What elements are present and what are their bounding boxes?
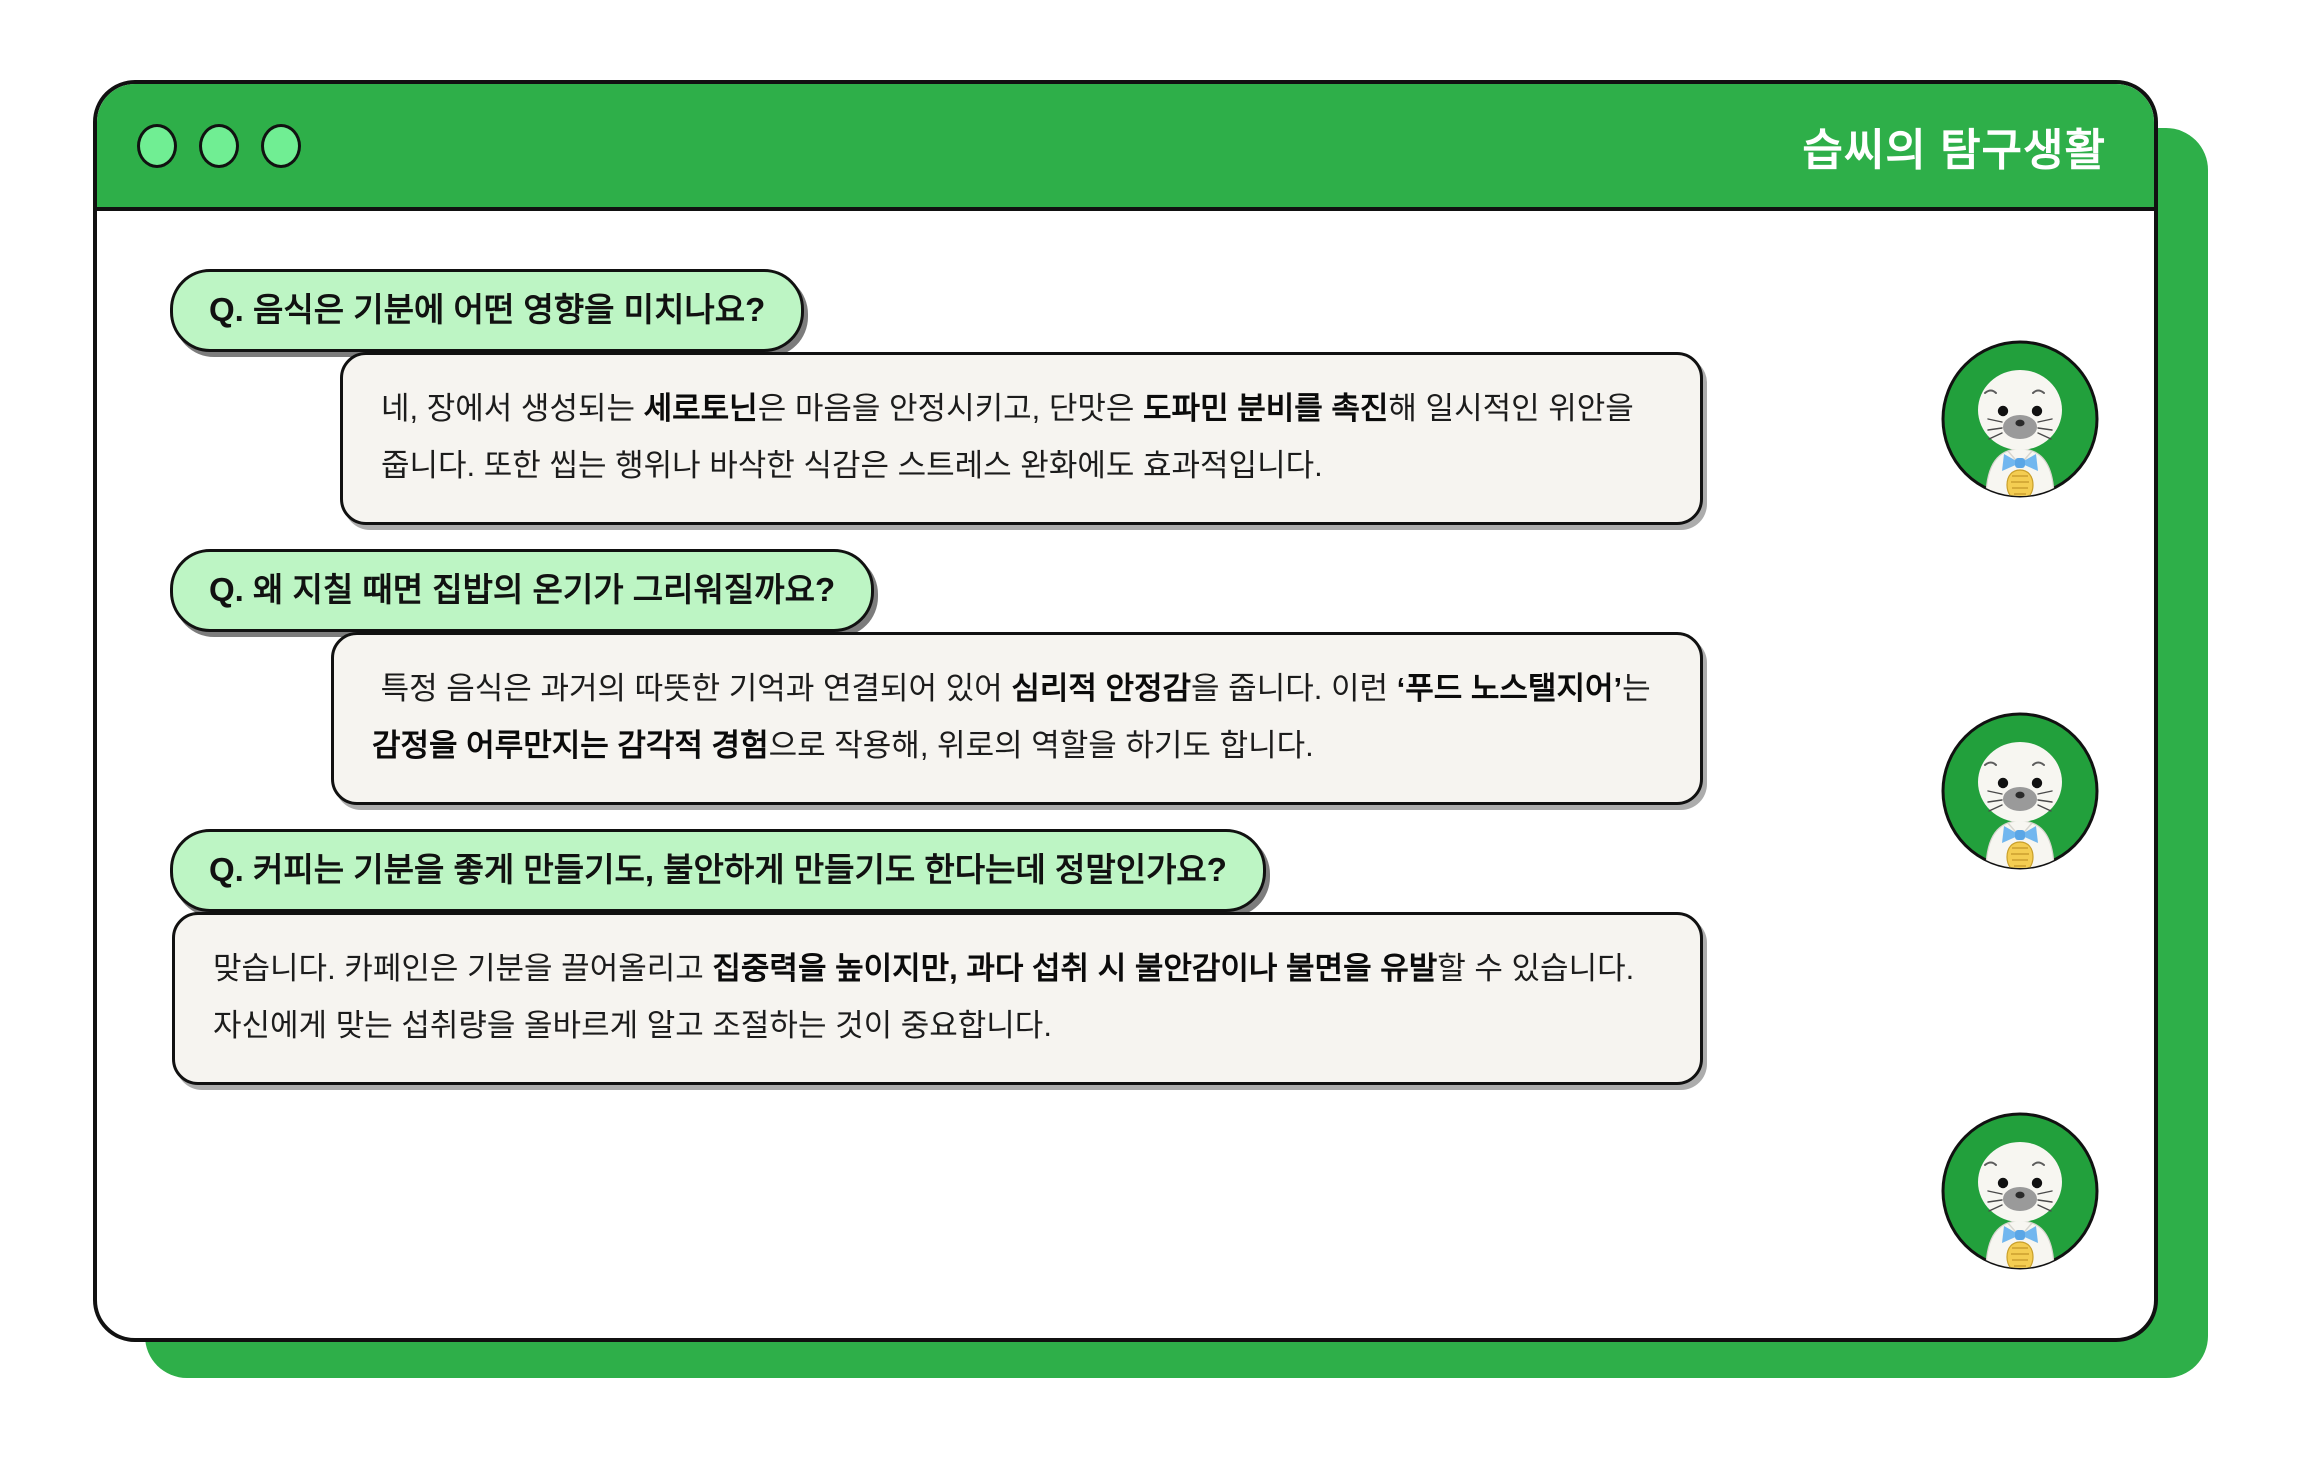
qa-content-area: Q. 음식은 기분에 어떤 영향을 미치나요? 네, 장에서 생성되는 세로토닌…: [97, 211, 2154, 1338]
seal-avatar: [1940, 1111, 2100, 1271]
minimize-dot-icon[interactable]: [199, 124, 239, 168]
seal-avatar: [1940, 339, 2100, 499]
answer-row: 특정 음식은 과거의 따뜻한 기억과 연결되어 있어 심리적 안정감을 줍니다.…: [97, 632, 2154, 805]
qa-block: Q. 음식은 기분에 어떤 영향을 미치나요? 네, 장에서 생성되는 세로토닌…: [97, 269, 2154, 525]
qa-block: Q. 왜 지칠 때면 집밥의 온기가 그리워질까요? 특정 음식은 과거의 따뜻…: [97, 549, 2154, 805]
answer-bubble: 네, 장에서 생성되는 세로토닌은 마음을 안정시키고, 단맛은 도파민 분비를…: [340, 352, 1703, 525]
answer-row: 맞습니다. 카페인은 기분을 끌어올리고 집중력을 높이지만, 과다 섭취 시 …: [97, 912, 2154, 1085]
question-bubble[interactable]: Q. 왜 지칠 때면 집밥의 온기가 그리워질까요?: [170, 549, 874, 632]
question-row: Q. 왜 지칠 때면 집밥의 온기가 그리워질까요?: [97, 549, 2154, 632]
answer-bubble: 특정 음식은 과거의 따뜻한 기억과 연결되어 있어 심리적 안정감을 줍니다.…: [331, 632, 1703, 805]
seal-avatar: [1940, 711, 2100, 871]
close-dot-icon[interactable]: [137, 124, 177, 168]
question-row: Q. 음식은 기분에 어떤 영향을 미치나요?: [97, 269, 2154, 352]
window-title-bar: 습씨의 탐구생활: [97, 84, 2154, 211]
qa-block: Q. 커피는 기분을 좋게 만들기도, 불안하게 만들기도 한다는데 정말인가요…: [97, 829, 2154, 1085]
window-title: 습씨의 탐구생활: [1802, 114, 2106, 178]
window-controls[interactable]: [137, 124, 301, 168]
answer-row: 네, 장에서 생성되는 세로토닌은 마음을 안정시키고, 단맛은 도파민 분비를…: [97, 352, 2154, 525]
question-bubble[interactable]: Q. 커피는 기분을 좋게 만들기도, 불안하게 만들기도 한다는데 정말인가요…: [170, 829, 1266, 912]
answer-bubble: 맞습니다. 카페인은 기분을 끌어올리고 집중력을 높이지만, 과다 섭취 시 …: [172, 912, 1703, 1085]
browser-window: 습씨의 탐구생활 Q. 음식은 기분에 어떤 영향을 미치나요? 네, 장에서 …: [93, 80, 2158, 1342]
question-row: Q. 커피는 기분을 좋게 만들기도, 불안하게 만들기도 한다는데 정말인가요…: [97, 829, 2154, 912]
maximize-dot-icon[interactable]: [261, 124, 301, 168]
question-bubble[interactable]: Q. 음식은 기분에 어떤 영향을 미치나요?: [170, 269, 804, 352]
